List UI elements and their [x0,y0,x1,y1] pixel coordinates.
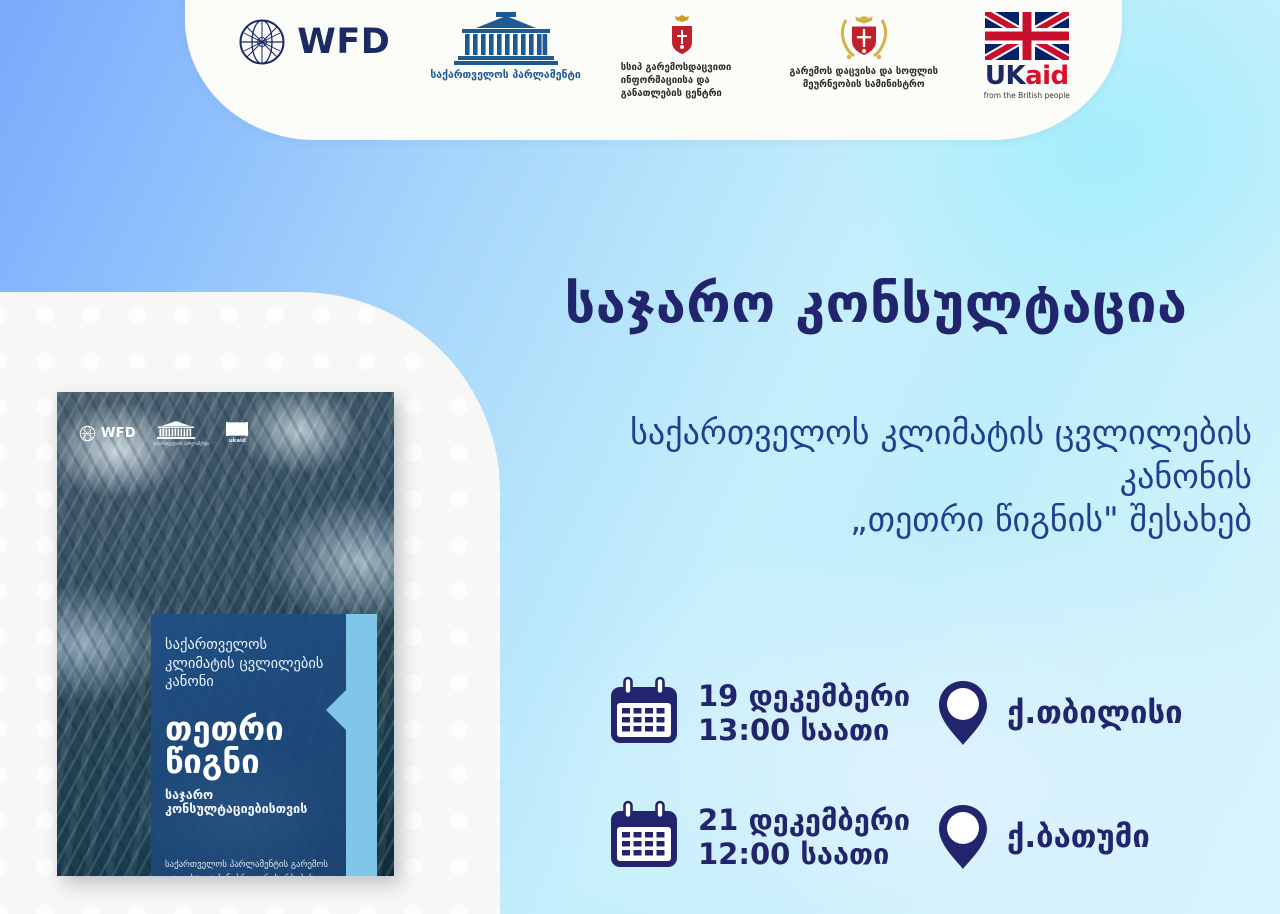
event-datetime: 19 დეკემბერი 13:00 საათი [698,679,935,747]
book-title-line-1: თეთრი [165,712,334,745]
book-parliament-caption: საქართველოს პარლამენტი [153,441,209,446]
ukaid-wordmark: UKaid [985,63,1069,89]
book-cover-logo-strip: WFD საქართველოს პარლამენტი [79,420,374,446]
page-subtitle-line-2: კანონის [470,456,1252,500]
event-time: 13:00 საათი [698,713,935,747]
event-row: 21 დეკემბერი 12:00 საათი ქ.ბათუმი [606,784,1246,890]
event-location: ქ.ბათუმი [1007,819,1150,855]
partner-logo-strip: WFD [185,12,1122,112]
map-pin-icon [937,679,989,747]
union-jack-icon [985,12,1069,60]
page-subtitle-line-3: „თეთრი წიგნის" შესახებ [470,499,1252,543]
page-subtitle-line-1: საქართველოს კლიმატის ცვლილების [470,412,1252,456]
book-subtitle-line-1: საჯარო [165,788,334,803]
book-cover-image: WFD საქართველოს პარლამენტი [57,392,394,876]
book-parliament-logo: საქართველოს პარლამენტი [153,420,209,446]
ukaid-logo: UKaid from the British people [985,12,1069,100]
parliament-building-icon [448,12,564,66]
calendar-icon [606,799,682,875]
wfd-globe-icon [238,18,286,66]
book-cyan-stripe [346,614,377,876]
globe-icon [79,425,96,442]
event-datetime: 21 დეკემბერი 12:00 საათი [698,803,935,871]
event-time: 12:00 საათი [698,837,935,871]
ministry-of-environment-logo: გარემოს დაცვისა და სოფლის მეურნეობის სამ… [783,14,945,92]
book-body-text: საქართველოს პარლამენტის გარემოს დაცვისა … [165,859,334,876]
page-title: საჯარო კონსულტაცია [500,272,1252,335]
event-location: ქ.თბილისი [1007,695,1183,731]
page-subtitle: საქართველოს კლიმატის ცვლილების კანონის „… [470,412,1252,543]
ukaid-aid-text: aid [1025,61,1069,91]
ukaid-uk-text: UK [985,61,1025,91]
book-wfd-wordmark: WFD [101,426,136,441]
union-jack-icon [226,422,248,436]
environmental-information-center-logo: სსიპ გარემოსდაცვითი ინფორმაციისა და განა… [621,14,743,100]
wfd-wordmark: WFD [297,22,390,62]
book-wfd-logo: WFD [79,425,136,442]
book-subtitle-line-2: კონსულტაციებისთვის [165,802,334,817]
map-pin-icon [937,803,989,871]
parliament-building-icon [153,420,199,440]
georgian-state-emblem-icon [838,14,890,60]
book-text-block: საქართველოს კლიმატის ცვლილების კანონი თე… [165,636,334,876]
header-logo-card: WFD [185,0,1122,140]
georgian-parliament-logo: საქართველოს პარლამენტი [430,12,580,81]
calendar-icon [606,675,682,751]
parliament-caption: საქართველოს პარლამენტი [430,69,580,81]
book-ukaid-logo: ukaid [226,422,248,444]
book-eyebrow: საქართველოს კლიმატის ცვლილების კანონი [165,636,334,692]
event-row: 19 დეკემბერი 13:00 საათი ქ.თბილისი [606,660,1246,766]
poster-canvas: WFD საქართველოს პარლამენტი [0,0,1280,914]
environmental-center-caption: სსიპ გარემოსდაცვითი ინფორმაციისა და განა… [621,61,743,100]
event-date: 19 დეკემბერი [698,679,935,713]
event-list: 19 დეკემბერი 13:00 საათი ქ.თბილისი [606,660,1246,890]
georgian-coat-of-arms-icon [669,14,695,56]
ukaid-tagline: from the British people [984,91,1070,100]
event-date: 21 დეკემბერი [698,803,935,837]
wfd-logo: WFD [238,18,390,66]
book-title-line-2: წიგნი [165,745,334,778]
ministry-caption: გარემოს დაცვისა და სოფლის მეურნეობის სამ… [783,65,945,92]
book-ukaid-wordmark: ukaid [226,438,248,444]
